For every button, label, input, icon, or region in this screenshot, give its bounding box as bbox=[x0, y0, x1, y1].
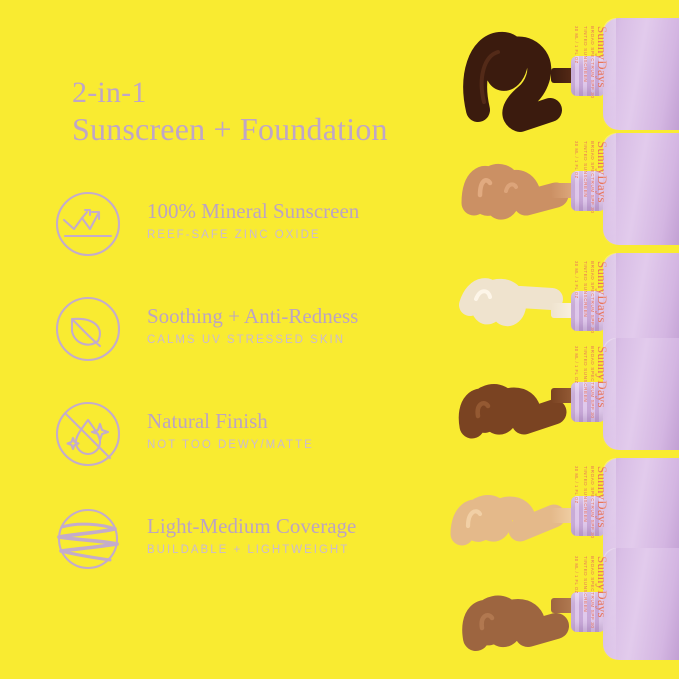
tube-nozzle bbox=[571, 56, 605, 96]
feature-title: Light-Medium Coverage bbox=[147, 513, 477, 539]
tube-nozzle bbox=[571, 171, 605, 211]
feature-row: Light-Medium Coverage BUILDABLE + LIGHTW… bbox=[52, 503, 472, 608]
tube-nozzle bbox=[571, 592, 605, 632]
no-droplet-sparkle-icon bbox=[52, 398, 124, 470]
tube-nozzle bbox=[571, 382, 605, 422]
tube-nozzle bbox=[571, 291, 605, 331]
feature-title: 100% Mineral Sunscreen bbox=[147, 198, 477, 224]
feature-title: Soothing + Anti-Redness bbox=[147, 303, 477, 329]
product-tube-column: SunnyDays BROAD SPECTRUM SPF 30 TINTED S… bbox=[440, 0, 679, 679]
product-unit: SunnyDays BROAD SPECTRUM SPF 30 TINTED S… bbox=[440, 125, 679, 255]
headline-line-1: 2-in-1 bbox=[72, 76, 502, 110]
product-unit: SunnyDays BROAD SPECTRUM SPF 30 TINTED S… bbox=[440, 10, 679, 140]
feature-row: Natural Finish NOT TOO DEWY/MATTE bbox=[52, 398, 472, 503]
product-tube: SunnyDays BROAD SPECTRUM SPF 30 TINTED S… bbox=[603, 548, 679, 660]
feature-row: 100% Mineral Sunscreen REEF-SAFE ZINC OX… bbox=[52, 188, 472, 293]
feature-title: Natural Finish bbox=[147, 408, 477, 434]
headline-line-2: Sunscreen + Foundation bbox=[72, 110, 502, 148]
page-title: 2-in-1 Sunscreen + Foundation bbox=[72, 76, 502, 148]
uv-deflect-icon bbox=[52, 188, 124, 260]
product-tube: SunnyDays BROAD SPECTRUM SPF 30 TINTED S… bbox=[603, 338, 679, 450]
product-tube: SunnyDays BROAD SPECTRUM SPF 30 TINTED S… bbox=[603, 18, 679, 130]
feature-subtitle: REEF-SAFE ZINC OXIDE bbox=[147, 226, 477, 244]
feature-subtitle: NOT TOO DEWY/MATTE bbox=[147, 436, 477, 454]
feature-subtitle: BUILDABLE + LIGHTWEIGHT bbox=[147, 541, 477, 559]
leaf-icon bbox=[52, 293, 124, 365]
tube-nozzle bbox=[571, 496, 605, 536]
feature-row: Soothing + Anti-Redness CALMS UV STRESSE… bbox=[52, 293, 472, 398]
product-unit: SunnyDays BROAD SPECTRUM SPF 30 TINTED S… bbox=[440, 540, 679, 670]
product-tube: SunnyDays BROAD SPECTRUM SPF 30 TINTED S… bbox=[603, 133, 679, 245]
product-feature-banner: 2-in-1 Sunscreen + Foundation 100% Miner… bbox=[0, 0, 679, 679]
feature-list: 100% Mineral Sunscreen REEF-SAFE ZINC OX… bbox=[52, 188, 472, 608]
coverage-layers-icon bbox=[52, 503, 124, 575]
feature-subtitle: CALMS UV STRESSED SKIN bbox=[147, 331, 477, 349]
product-unit: SunnyDays BROAD SPECTRUM SPF 30 TINTED S… bbox=[440, 330, 679, 460]
